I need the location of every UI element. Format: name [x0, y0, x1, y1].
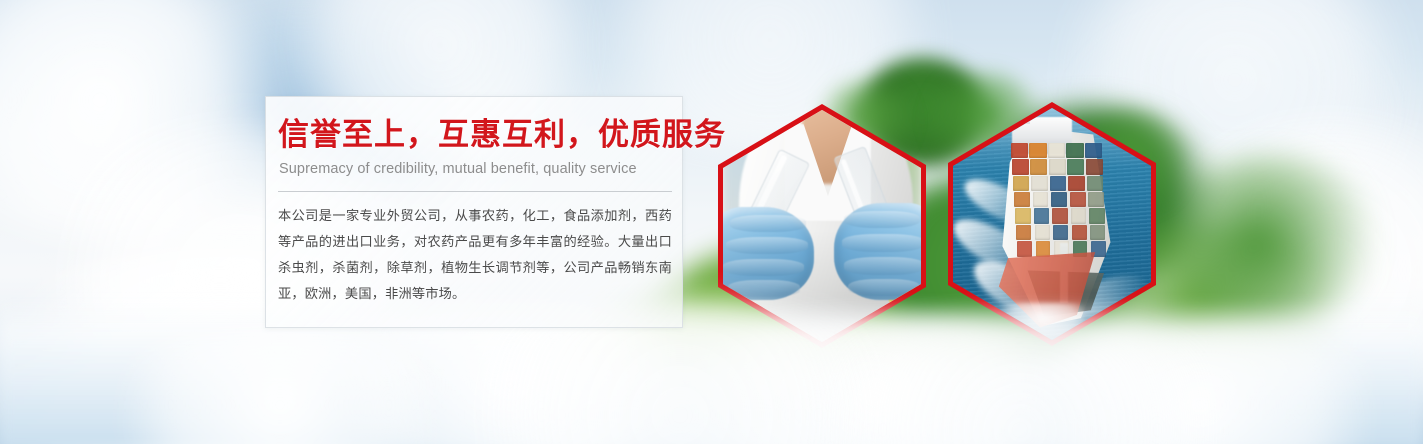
- company-description: 本公司是一家专业外贸公司，从事农药，化工，食品添加剂，西药等产品的进出口业务，对…: [278, 203, 672, 307]
- shipping-container: [1085, 143, 1103, 159]
- shipping-container: [1072, 225, 1087, 241]
- shipping-container: [1067, 159, 1084, 175]
- shipping-container: [1030, 159, 1047, 175]
- shipping-container: [1068, 176, 1084, 192]
- shipping-container: [1049, 159, 1066, 175]
- page-subtitle: Supremacy of credibility, mutual benefit…: [279, 161, 679, 177]
- shipping-container: [1048, 143, 1066, 159]
- shipping-container: [1035, 225, 1050, 241]
- shipping-container: [1031, 176, 1047, 192]
- divider: [278, 191, 672, 192]
- shipping-container: [1087, 176, 1103, 192]
- shipping-container: [1051, 192, 1067, 208]
- shipping-container: [1029, 143, 1047, 159]
- shipping-container: [1066, 143, 1084, 159]
- shipping-container: [1036, 241, 1050, 257]
- shipping-container: [1016, 225, 1031, 241]
- shipping-container: [1015, 208, 1030, 224]
- promotional-banner: 信誉至上，互惠互利，优质服务 Supremacy of credibility,…: [0, 0, 1423, 444]
- shipping-container: [1012, 159, 1029, 175]
- shipping-container: [1088, 192, 1104, 208]
- shipping-container: [1089, 208, 1104, 224]
- shipping-container: [1033, 192, 1049, 208]
- shipping-container: [1011, 143, 1029, 159]
- shipping-container: [1086, 159, 1103, 175]
- shipping-container: [1052, 208, 1067, 224]
- shipping-container: [1053, 225, 1068, 241]
- company-intro-panel: 信誉至上，互惠互利，优质服务 Supremacy of credibility,…: [265, 96, 683, 328]
- shipping-container: [1071, 208, 1086, 224]
- shipping-container: [1050, 176, 1066, 192]
- shipping-container: [1013, 176, 1029, 192]
- shipping-container: [1034, 208, 1049, 224]
- shipping-container: [1090, 225, 1105, 241]
- page-title: 信誉至上，互惠互利，优质服务: [278, 119, 674, 150]
- shipping-container: [1070, 192, 1086, 208]
- shipping-container: [1014, 192, 1030, 208]
- shipping-container: [1017, 241, 1031, 257]
